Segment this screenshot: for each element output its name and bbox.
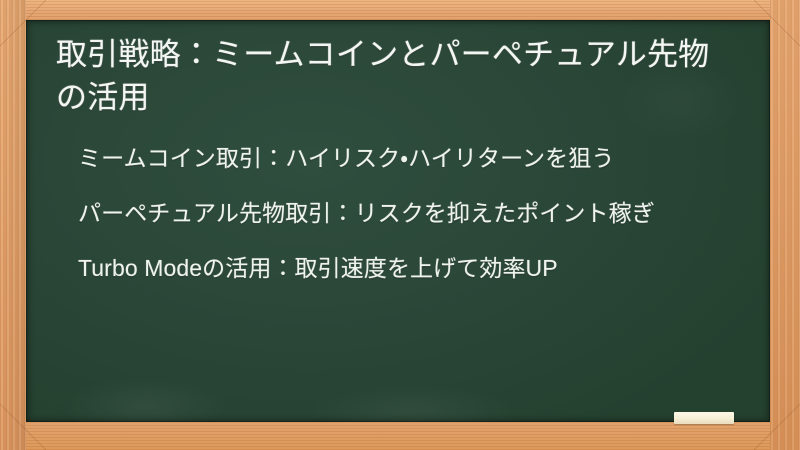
frame-bottom xyxy=(0,422,800,450)
chalk-stick xyxy=(674,412,734,424)
bullet-item-perpetual-futures: パーペチュアル先物取引：リスクを抑えたポイント稼ぎ xyxy=(78,197,736,229)
frame-top xyxy=(0,0,800,20)
frame-left xyxy=(0,0,26,450)
board-content: 取引戦略：ミームコインとパーペチュアル先物の活用 ミームコイン取引：ハイリスク・… xyxy=(26,20,770,422)
slide-title: 取引戦略：ミームコインとパーペチュアル先物の活用 xyxy=(56,34,746,120)
bullet-item-turbo-mode: Turbo Modeの活用：取引速度を上げて効率UP xyxy=(78,252,736,284)
frame-right xyxy=(770,0,800,450)
chalkboard-surface: 取引戦略：ミームコインとパーペチュアル先物の活用 ミームコイン取引：ハイリスク・… xyxy=(26,20,770,422)
bullet-item-meme-coin: ミームコイン取引：ハイリスク・ハイリターンを狙う xyxy=(78,142,736,174)
chalkboard-slide: 取引戦略：ミームコインとパーペチュアル先物の活用 ミームコイン取引：ハイリスク・… xyxy=(0,0,800,450)
bullet-list: ミームコイン取引：ハイリスク・ハイリターンを狙う パーペチュアル先物取引：リスク… xyxy=(56,142,746,285)
